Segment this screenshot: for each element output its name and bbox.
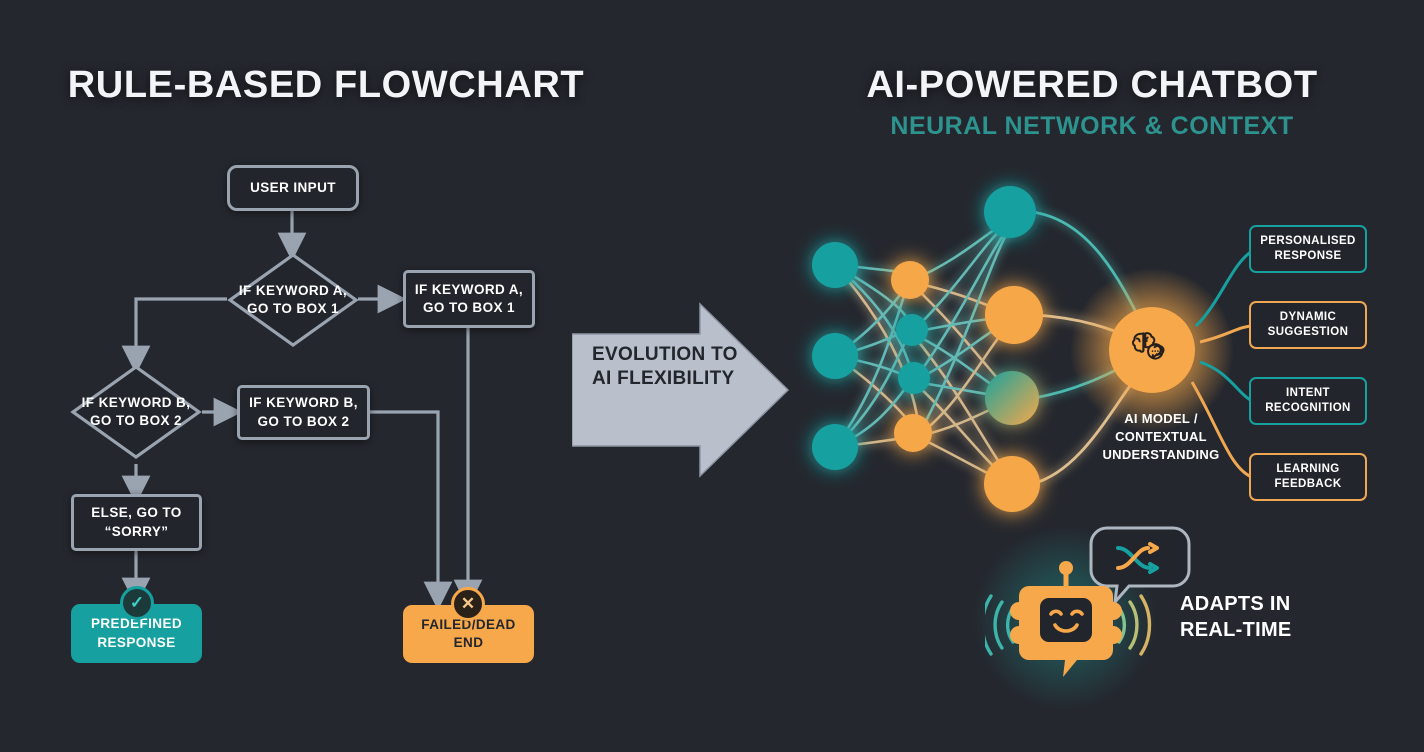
flow-decision-keyword-b[interactable]: IF KEYWORD B, GO TO BOX 2: [70, 364, 202, 460]
flow-terminal-failed-label: FAILED/DEAD END: [409, 616, 528, 652]
output-box-dynamic-suggestion[interactable]: DYNAMIC SUGGESTION: [1249, 301, 1367, 349]
flow-node-else-sorry[interactable]: ELSE, GO TO “SORRY”: [71, 494, 202, 551]
adapts-label: ADAPTS IN REAL-TIME: [1180, 592, 1370, 643]
ai-model-label-line1: AI MODEL /: [1078, 410, 1244, 428]
adapts-label-line1: ADAPTS IN: [1180, 592, 1370, 618]
evolution-label-line1: EVOLUTION TO: [592, 343, 742, 367]
flow-terminal-predefined-line2: RESPONSE: [97, 634, 175, 652]
flow-node-action-a-line1: IF KEYWORD A,: [415, 281, 523, 299]
output-box-intent-recognition[interactable]: INTENT RECOGNITION: [1249, 377, 1367, 425]
infographic-canvas: RULE-BASED FLOWCHART USE: [0, 0, 1424, 752]
check-icon: ✓: [120, 586, 154, 620]
output-box-1-line2: SUGGESTION: [1268, 325, 1349, 340]
flow-node-action-b-line1: IF KEYWORD B,: [249, 394, 358, 412]
flow-decision-keyword-b-line2: GO TO BOX 2: [82, 412, 191, 430]
ai-model-label-line2: CONTEXTUAL: [1078, 428, 1244, 446]
flow-node-action-a[interactable]: IF KEYWORD A, GO TO BOX 1: [403, 270, 535, 328]
output-box-0-line2: RESPONSE: [1274, 249, 1341, 264]
evolution-label-line2: AI FLEXIBILITY: [592, 367, 742, 391]
flow-node-action-b-line2: GO TO BOX 2: [258, 413, 350, 431]
ai-model-label-line3: UNDERSTANDING: [1078, 446, 1244, 464]
ai-model-label: AI MODEL / CONTEXTUAL UNDERSTANDING: [1078, 410, 1244, 464]
flow-decision-keyword-b-line1: IF KEYWORD B,: [82, 394, 191, 412]
output-box-2-line1: INTENT: [1286, 386, 1330, 401]
adapts-label-line2: REAL-TIME: [1180, 618, 1370, 644]
output-box-3-line1: LEARNING: [1276, 462, 1339, 477]
flow-node-action-b[interactable]: IF KEYWORD B, GO TO BOX 2: [237, 385, 370, 440]
evolution-label: EVOLUTION TO AI FLEXIBILITY: [592, 343, 742, 391]
output-box-3-line2: FEEDBACK: [1274, 477, 1341, 492]
flow-node-user-input-label: USER INPUT: [250, 179, 336, 197]
cross-icon: ✕: [451, 587, 485, 621]
output-box-0-line1: PERSONALISED: [1260, 234, 1356, 249]
flow-decision-keyword-a-line2: GO TO BOX 1: [239, 300, 347, 318]
output-box-2-line2: RECOGNITION: [1265, 401, 1351, 416]
output-box-1-line1: DYNAMIC: [1280, 310, 1336, 325]
flow-node-else-line1: ELSE, GO TO: [91, 504, 181, 522]
flow-node-user-input[interactable]: USER INPUT: [227, 165, 359, 211]
flow-node-else-line2: “SORRY”: [105, 523, 169, 541]
page-title-right: AI-POWERED CHATBOT: [760, 64, 1424, 107]
flow-decision-keyword-a[interactable]: IF KEYWORD A, GO TO BOX 1: [227, 252, 359, 348]
output-box-personalised-response[interactable]: PERSONALISED RESPONSE: [1249, 225, 1367, 273]
flow-node-action-a-line2: GO TO BOX 1: [423, 299, 515, 317]
output-box-learning-feedback[interactable]: LEARNING FEEDBACK: [1249, 453, 1367, 501]
check-glyph: ✓: [130, 593, 144, 613]
page-subtitle-right: NEURAL NETWORK & CONTEXT: [760, 112, 1424, 141]
cross-glyph: ✕: [461, 594, 475, 614]
flow-decision-keyword-a-line1: IF KEYWORD A,: [239, 282, 347, 300]
